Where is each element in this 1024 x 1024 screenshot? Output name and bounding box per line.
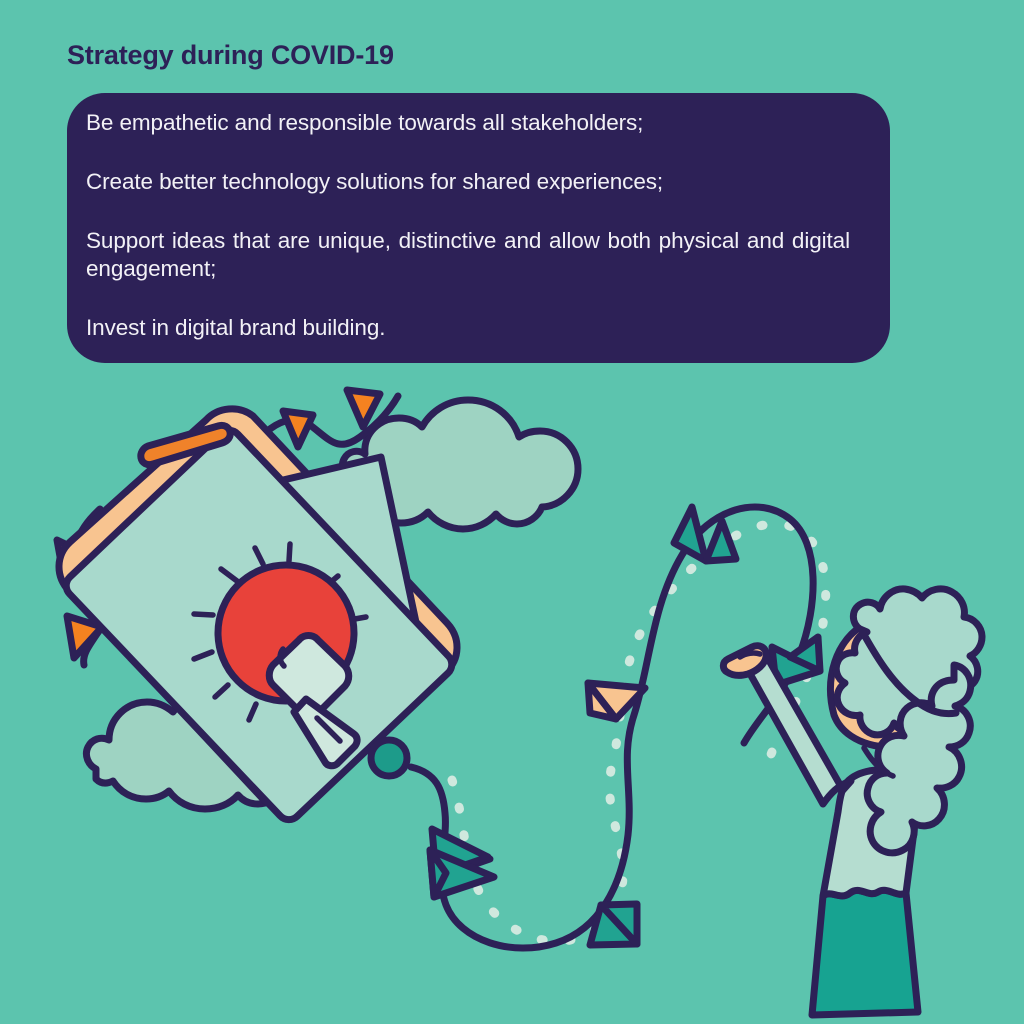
slide-canvas: Strategy during COVID-19 Be empathetic a… [0,0,1024,1024]
strategy-point-4: Invest in digital brand building. [86,314,850,342]
dotted-trail [452,524,826,941]
strategy-point-3: Support ideas that are unique, distincti… [86,227,850,283]
strategy-point-1: Be empathetic and responsible towards al… [86,109,850,137]
kite-illustration: .ol { stroke:#2d2157; stroke-width:7; st… [0,365,1024,1024]
strategy-panel: Be empathetic and responsible towards al… [67,93,890,363]
page-title: Strategy during COVID-19 [67,40,394,71]
girl-figure [723,589,982,1015]
strategy-point-2: Create better technology solutions for s… [86,168,850,196]
